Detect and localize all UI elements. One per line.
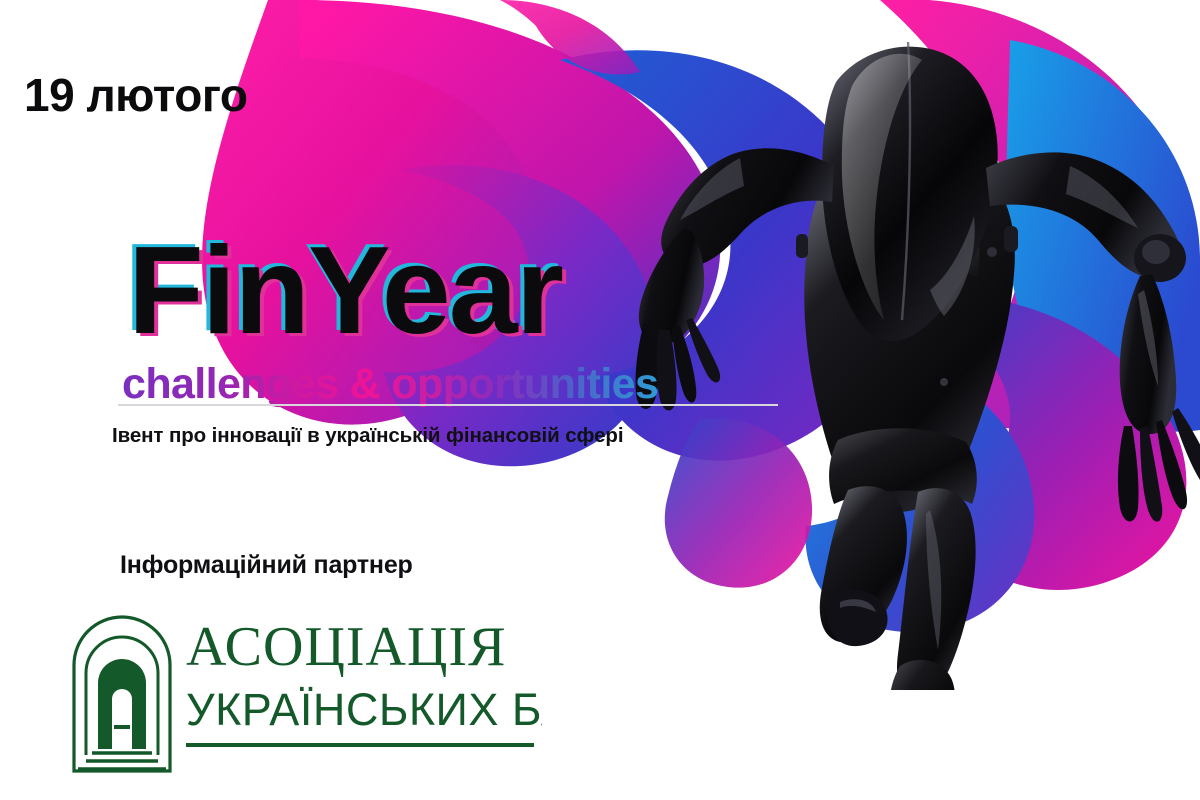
finyear-logo-lockup: FinYear FinYear FinYear FinYear — [118, 222, 818, 410]
svg-text:FinYear: FinYear — [128, 222, 563, 360]
event-date: 19 лютого — [24, 68, 247, 122]
svg-text:challenges & opportunities: challenges & opportunities — [122, 360, 658, 408]
partner-logo-aub: АСОЦІАЦІЯ УКРАЇНСЬКИХ БАНКІВ АСОЦІАЦІЯ У… — [62, 603, 542, 778]
finyear-tagline: challenges & opportunities challenges & … — [118, 358, 738, 410]
svg-text:АСОЦІАЦІЯ: АСОЦІАЦІЯ — [186, 616, 506, 678]
tagline-divider — [118, 404, 778, 406]
promo-poster: 19 лютого FinYear FinYear FinYear FinYea… — [0, 0, 1200, 800]
finyear-wordmark: FinYear FinYear FinYear FinYear — [118, 222, 738, 362]
event-subtitle: Івент про інновації в українській фінанс… — [112, 424, 623, 448]
partner-heading: Інформаційний партнер — [120, 551, 413, 580]
svg-text:УКРАЇНСЬКИХ БАНКІВ: УКРАЇНСЬКИХ БАНКІВ — [186, 684, 542, 735]
aub-arch-emblem — [74, 617, 170, 771]
